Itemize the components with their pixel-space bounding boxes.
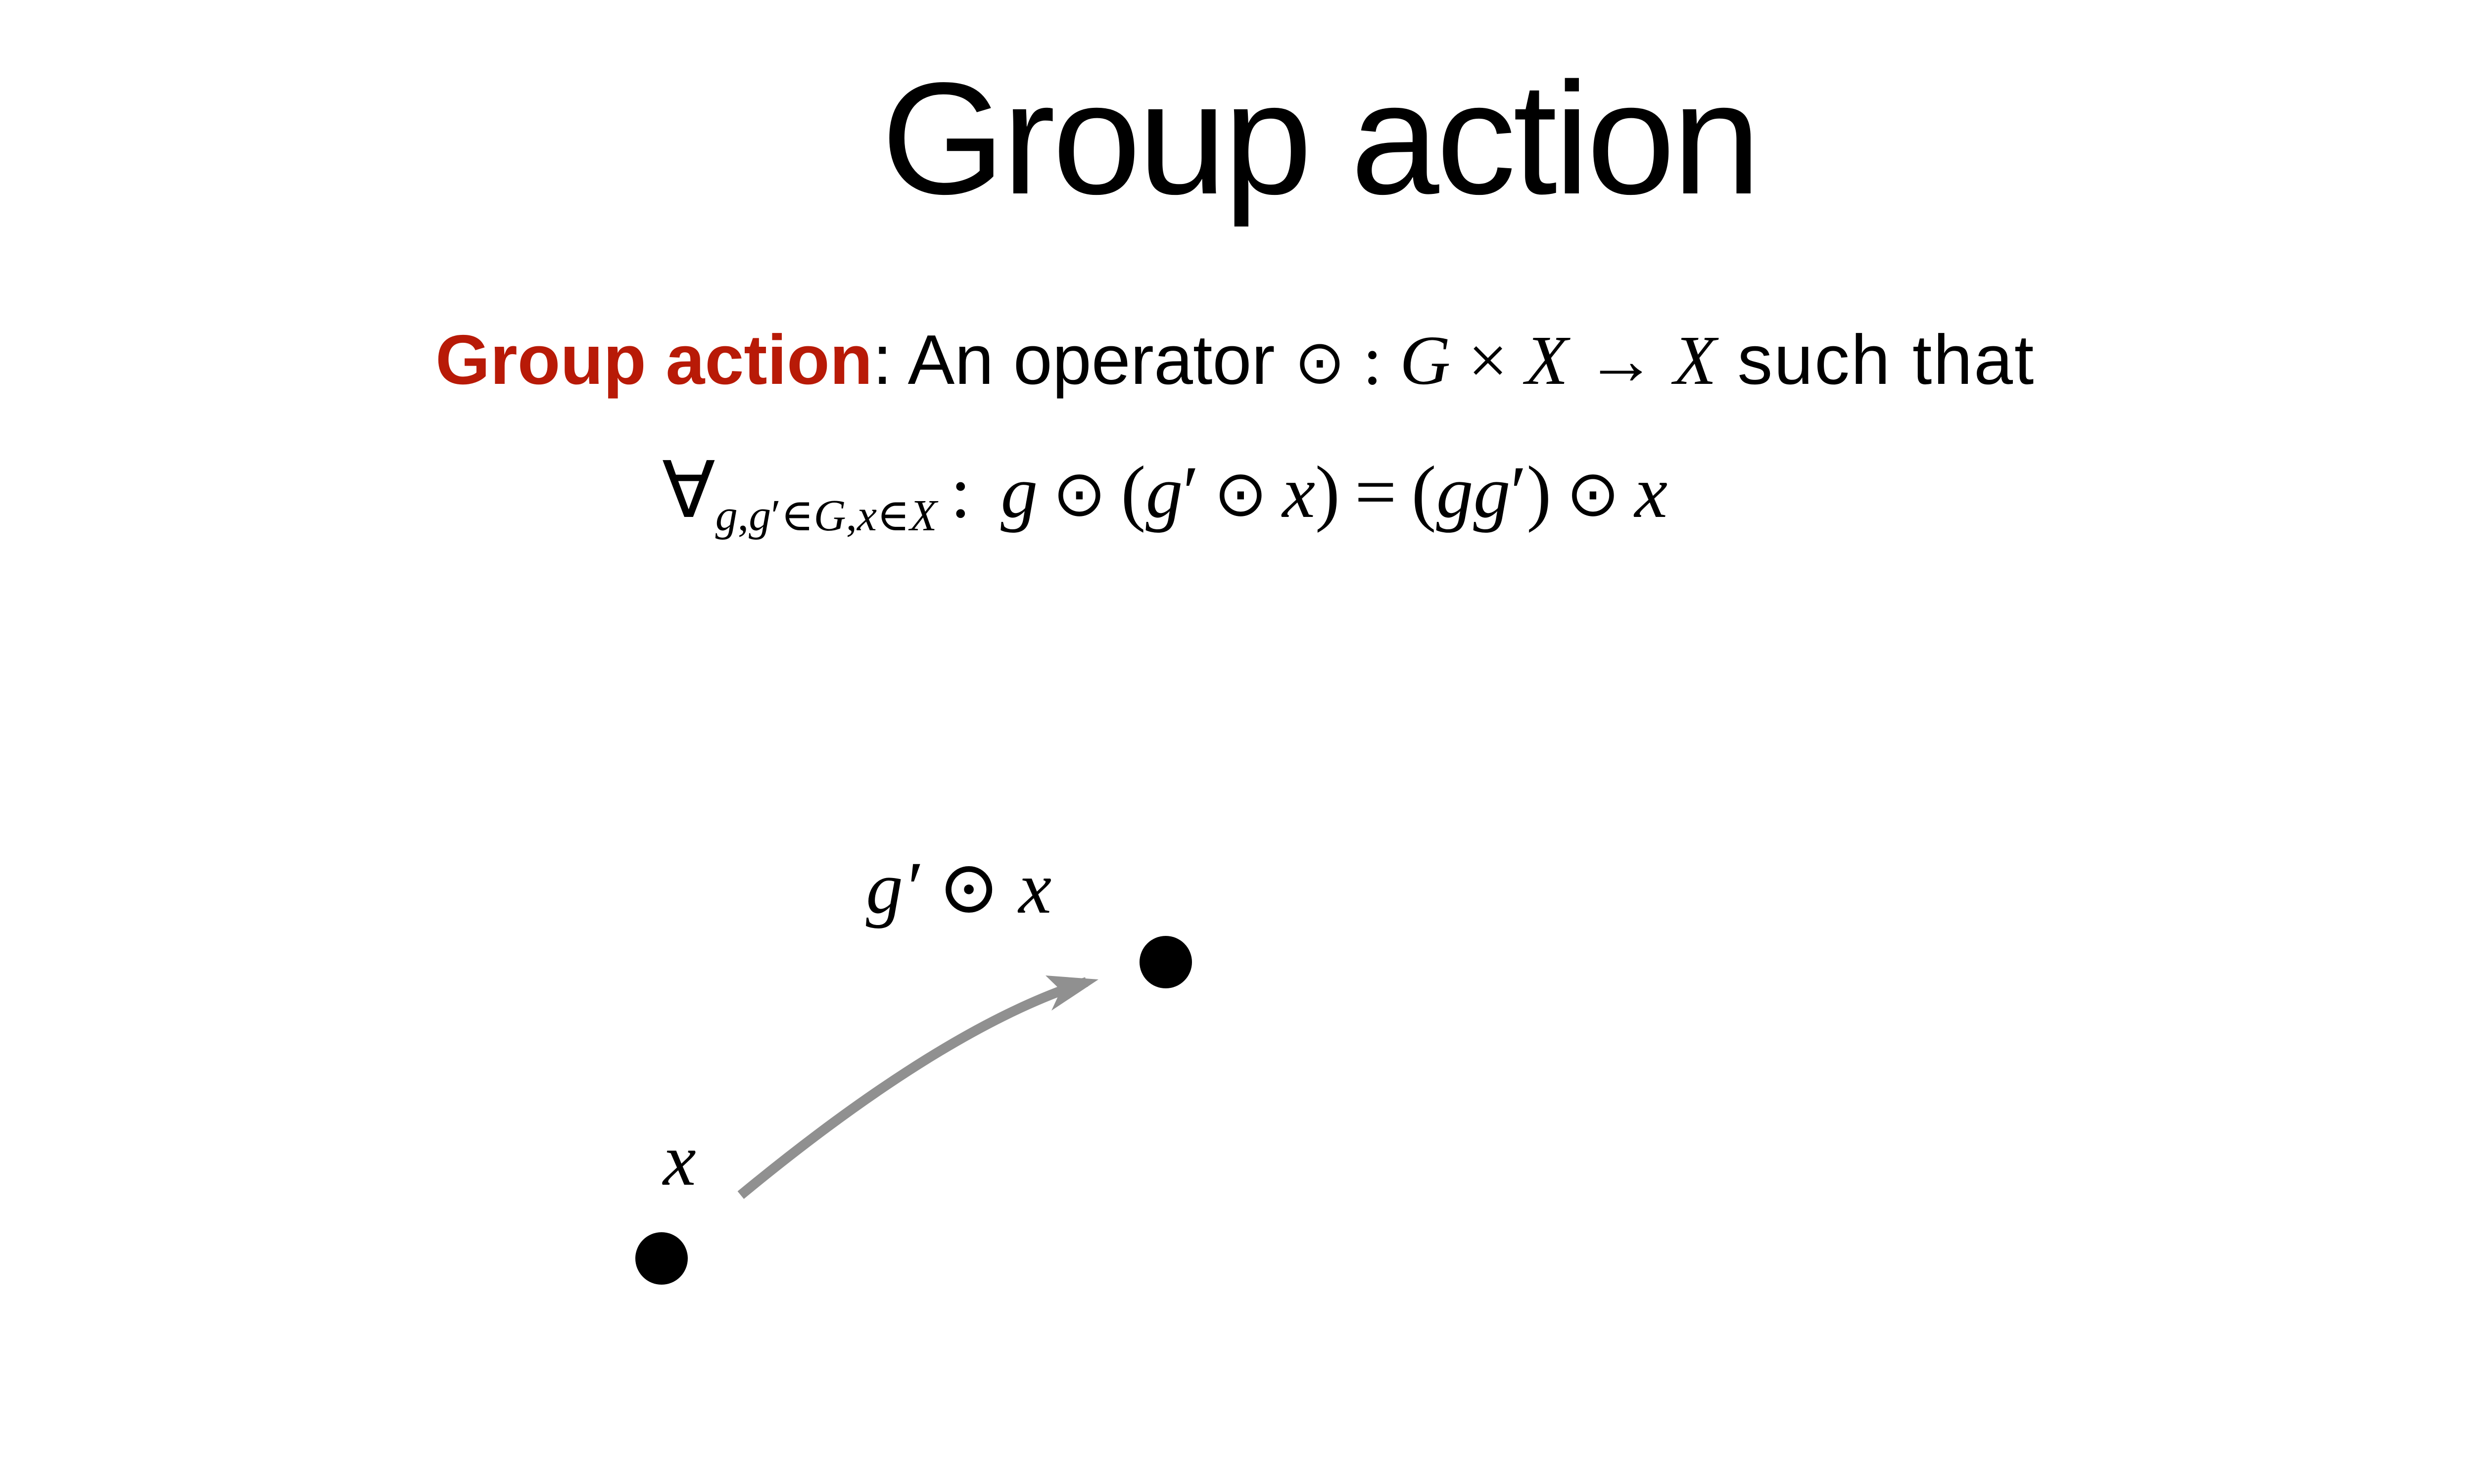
- odot-operator-icon-2: ⊙: [1214, 457, 1267, 531]
- prime-icon-2: ′: [1183, 451, 1199, 533]
- page-title: Group action: [0, 59, 2474, 219]
- subscript-X: X: [910, 491, 937, 540]
- definition-term: Group action: [435, 321, 873, 399]
- definition-domain-right: X: [1525, 321, 1569, 399]
- subscript-comma-1: ,: [738, 491, 749, 540]
- source-point: [635, 1232, 688, 1285]
- eq-x-1: x: [1282, 451, 1315, 533]
- definition-separator: :: [873, 321, 908, 399]
- target-point: [1140, 936, 1192, 988]
- eq-g-prime: g: [1145, 451, 1183, 533]
- definition-math-colon: :: [1345, 321, 1399, 399]
- element-of-icon-2: ∈: [877, 491, 910, 540]
- right-arrow-icon: →: [1568, 321, 1673, 399]
- definition-line: Group action: An operator ⊙ : G × X → X …: [435, 321, 2035, 400]
- axiom-equation: ∀g,g′∈G,x∈X:g ⊙ (g′ ⊙ x) = (gg′) ⊙ x: [662, 445, 1667, 536]
- subscript-x: x: [857, 491, 877, 540]
- open-paren-2: (: [1412, 451, 1436, 533]
- action-arrow-curve: [741, 982, 1087, 1195]
- close-paren-1: ): [1315, 451, 1340, 533]
- target-point-label: g′ ⊙ x: [866, 851, 1051, 925]
- subscript-g: g: [715, 491, 738, 540]
- definition-domain-left: G: [1400, 321, 1451, 399]
- prime-icon-3: ′: [1511, 451, 1527, 533]
- source-point-label: x: [663, 1123, 696, 1197]
- definition-text-after-math: such that: [1716, 321, 2035, 399]
- equation-body: g ⊙ (g′ ⊙ x) = (gg′) ⊙ x: [971, 451, 1667, 533]
- subscript-G: G: [814, 491, 846, 540]
- group-action-diagram: g′ ⊙ x x: [569, 831, 1311, 1365]
- eq-x-2: x: [1634, 451, 1667, 533]
- eq-g-left: g: [1000, 451, 1038, 533]
- prime-icon-1: ′: [771, 491, 781, 540]
- open-paren-1: (: [1121, 451, 1145, 533]
- odot-operator-icon: ⊙: [1294, 327, 1345, 397]
- eq-gg: gg: [1436, 451, 1511, 533]
- odot-operator-icon-1: ⊙: [1052, 457, 1106, 531]
- cartesian-product-icon: ×: [1450, 321, 1525, 399]
- definition-codomain: X: [1673, 321, 1716, 399]
- slide-canvas: Group action Group action: An operator ⊙…: [0, 0, 2474, 1484]
- close-paren-2: ): [1526, 451, 1551, 533]
- forall-quantifier-icon: ∀: [662, 445, 715, 536]
- definition-text-before-math: An operator: [908, 321, 1295, 399]
- equation-colon: :: [937, 451, 971, 533]
- element-of-icon-1: ∈: [781, 491, 814, 540]
- equals-sign: =: [1355, 451, 1397, 533]
- quantifier-subscript: g,g′∈G,x∈X: [715, 491, 937, 540]
- subscript-g-prime: g: [749, 491, 771, 540]
- subscript-comma-2: ,: [846, 491, 857, 540]
- odot-operator-icon-3: ⊙: [1566, 457, 1619, 531]
